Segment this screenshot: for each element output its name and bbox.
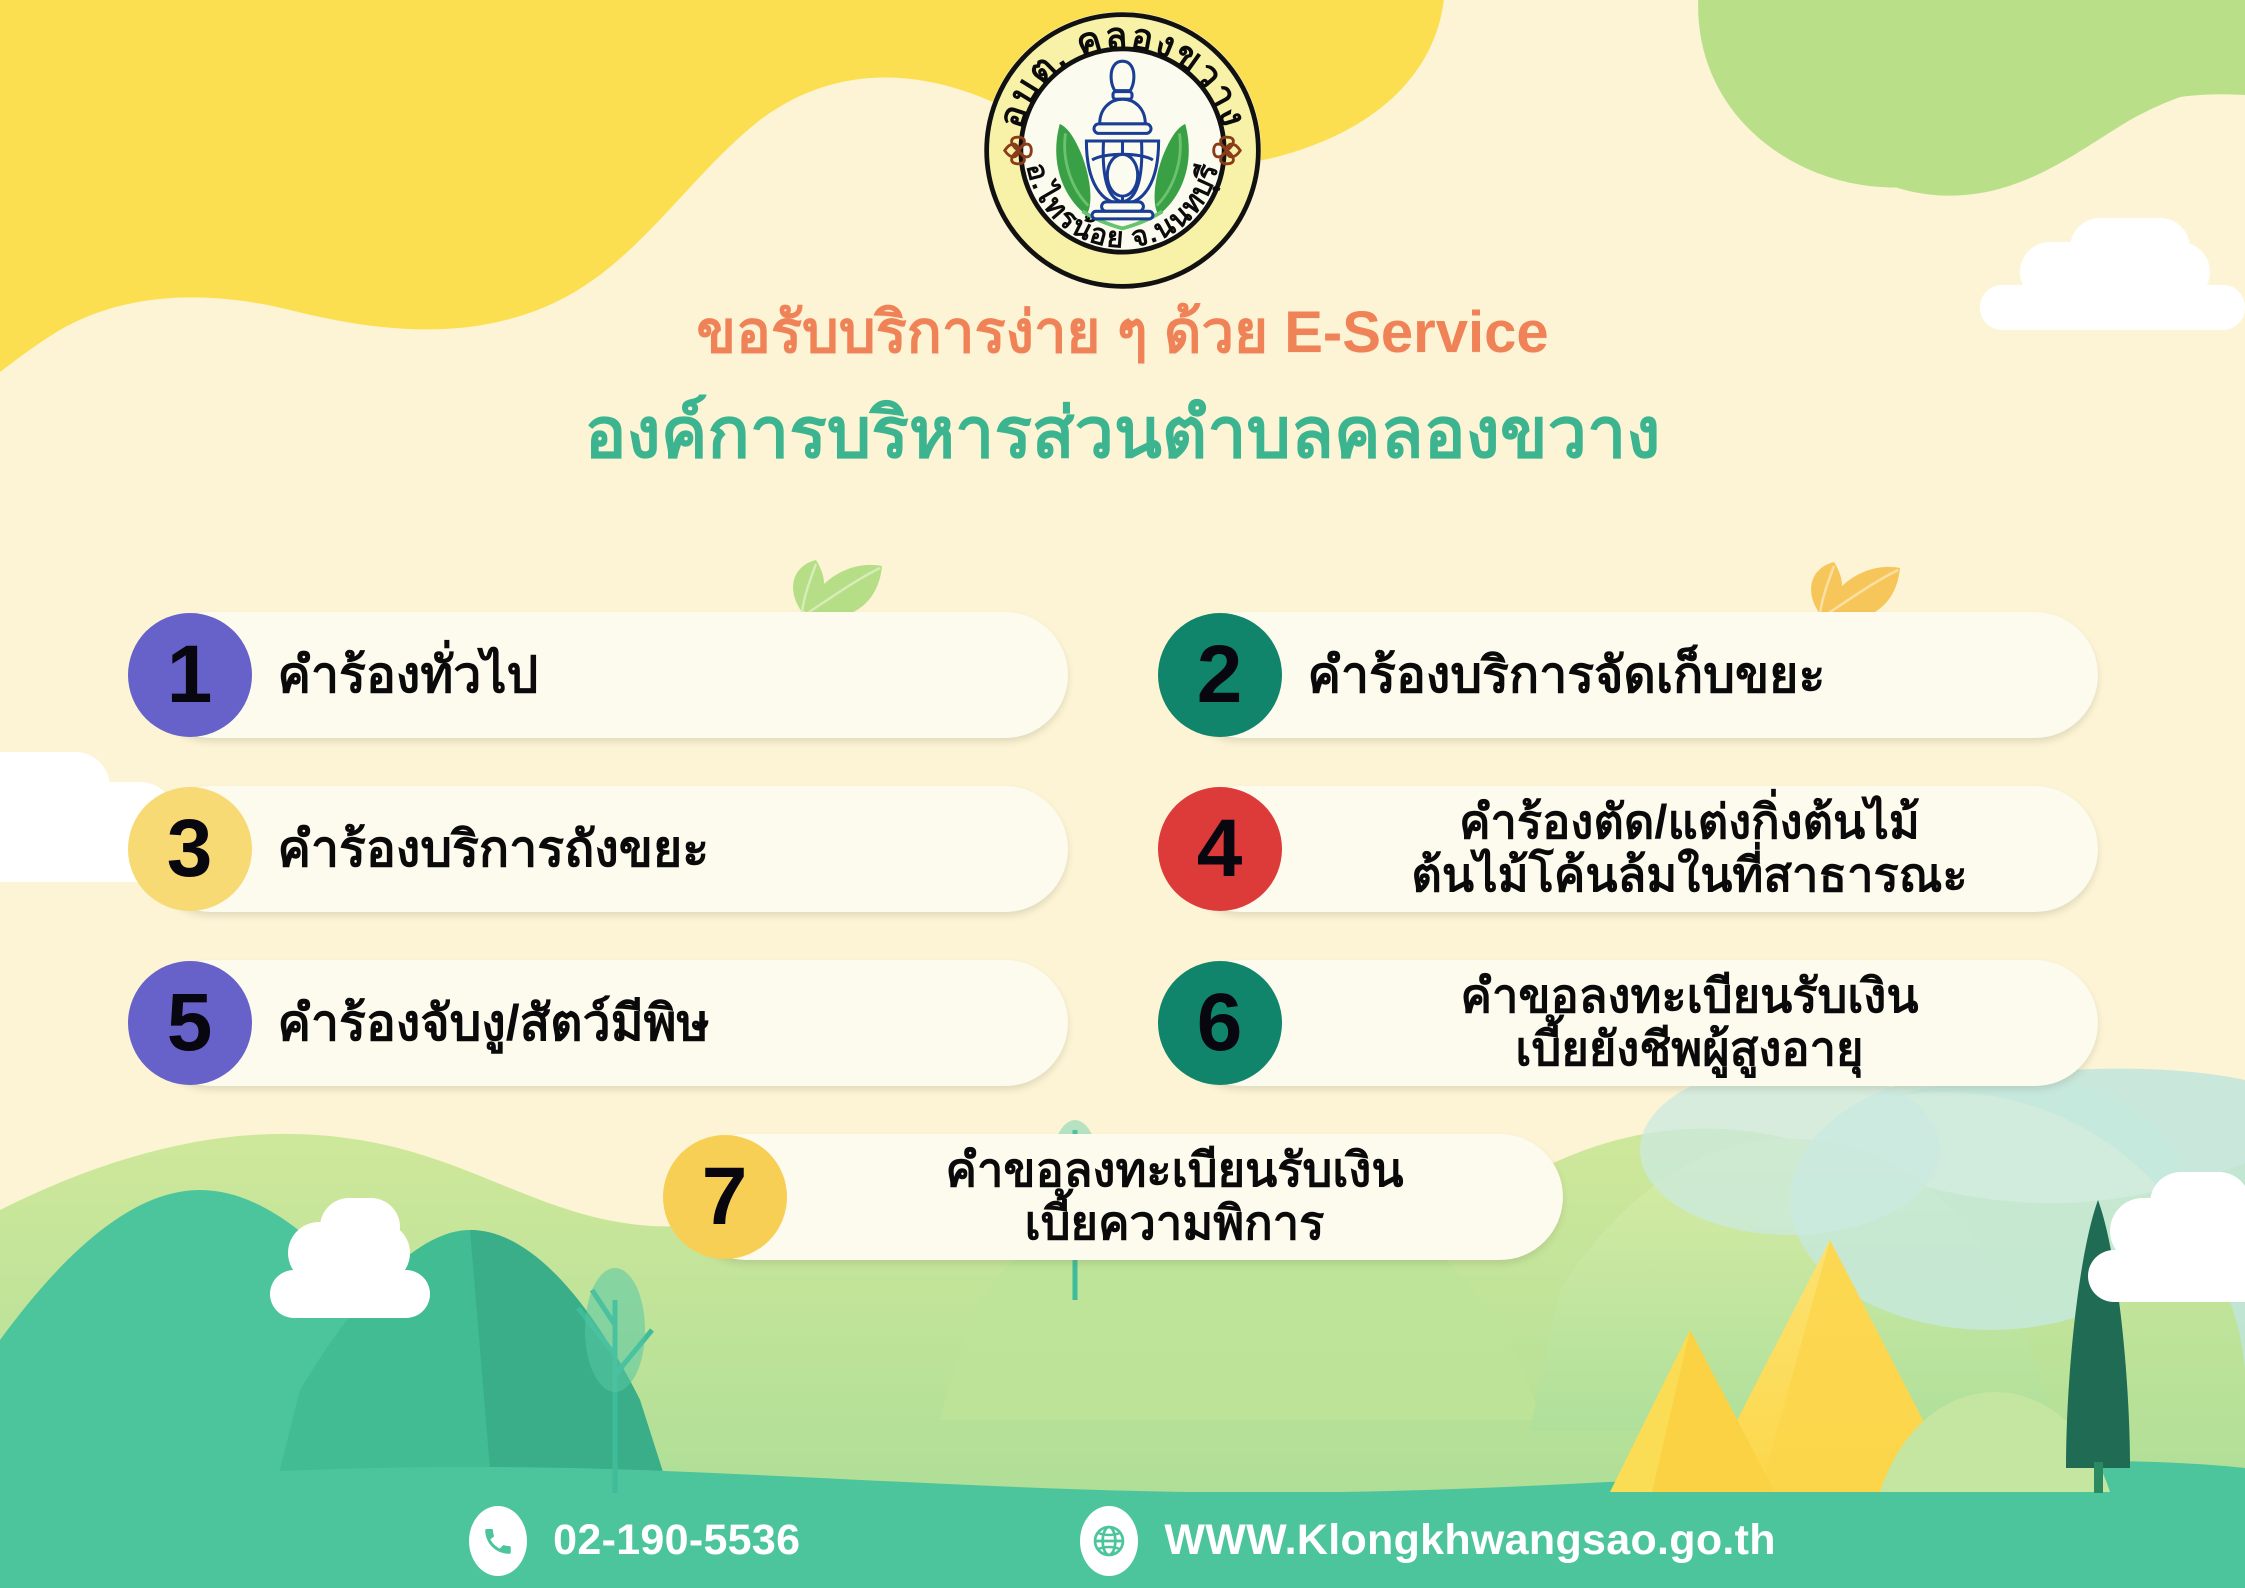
service-card-3[interactable]: 3 คำร้องบริการถังขยะ: [148, 786, 1068, 912]
service-number-badge-6: 6: [1158, 961, 1282, 1085]
contact-phone[interactable]: 02-190-5536: [469, 1506, 800, 1576]
service-label-6-line1: คำขอลงทะเบียนรับเงิน: [1461, 969, 1919, 1022]
poster-header: อบต. คลองขวาง อ.ไทรน้อย จ.นนทบุรี: [0, 0, 2245, 472]
service-list: 1 คำร้องทั่วไป 2 คำร้องบริการจัดเก็บขยะ …: [0, 612, 2245, 1308]
service-number-4: 4: [1197, 808, 1243, 890]
service-number-badge-1: 1: [128, 613, 252, 737]
mountain-yellow-small: [1610, 1330, 1775, 1492]
service-number-badge-5: 5: [128, 961, 252, 1085]
service-number-badge-2: 2: [1158, 613, 1282, 737]
phone-number: 02-190-5536: [553, 1516, 800, 1565]
service-label-4-line1: คำร้องตัด/แต่งกิ่งต้นไม้: [1459, 795, 1920, 848]
service-label-2: คำร้องบริการจัดเก็บขยะ: [1308, 647, 2072, 703]
service-label-7: คำขอลงทะเบียนรับเงิน เบี้ยความพิการ: [813, 1144, 1537, 1249]
service-label-1: คำร้องทั่วไป: [278, 647, 1042, 703]
service-number-badge-4: 4: [1158, 787, 1282, 911]
service-row-3: 5 คำร้องจับงู/สัตว์มีพิษ 6 คำขอลงทะเบียน…: [0, 960, 2245, 1086]
leaf-pair-yellow-1: [1811, 562, 1900, 620]
service-label-3: คำร้องบริการถังขยะ: [278, 821, 1042, 877]
service-number-6: 6: [1197, 982, 1243, 1064]
service-number-2: 2: [1197, 634, 1243, 716]
service-card-1[interactable]: 1 คำร้องทั่วไป: [148, 612, 1068, 738]
service-card-2[interactable]: 2 คำร้องบริการจัดเก็บขยะ: [1178, 612, 2098, 738]
page-title: ขอรับบริการง่าย ๆ ด้วย E-Service: [0, 301, 2245, 365]
organization-seal-logo: อบต. คลองขวาง อ.ไทรน้อย จ.นนทบุรี: [980, 8, 1265, 293]
globe-icon: [1080, 1506, 1138, 1576]
service-label-4-line2: ต้นไม้โค้นล้มในที่สาธารณะ: [1308, 849, 2072, 902]
service-number-7: 7: [702, 1156, 748, 1238]
phone-icon: [469, 1506, 527, 1576]
service-number-5: 5: [167, 982, 213, 1064]
leaf-pair-green-1: [793, 560, 882, 618]
service-label-5: คำร้องจับงู/สัตว์มีพิษ: [278, 995, 1042, 1051]
service-label-6-line2: เบี้ยยังชีพผู้สูงอายุ: [1308, 1023, 2072, 1076]
contact-footer: 02-190-5536 WWW.Klongkhwangsao.go.th: [0, 1493, 2245, 1588]
service-number-1: 1: [167, 634, 213, 716]
service-card-5[interactable]: 5 คำร้องจับงู/สัตว์มีพิษ: [148, 960, 1068, 1086]
service-number-badge-3: 3: [128, 787, 252, 911]
service-label-4: คำร้องตัด/แต่งกิ่งต้นไม้ ต้นไม้โค้นล้มใน…: [1308, 796, 2072, 901]
service-row-1: 1 คำร้องทั่วไป 2 คำร้องบริการจัดเก็บขยะ: [0, 612, 2245, 738]
service-number-badge-7: 7: [663, 1135, 787, 1259]
service-card-6[interactable]: 6 คำขอลงทะเบียนรับเงิน เบี้ยยังชีพผู้สูง…: [1178, 960, 2098, 1086]
service-card-4[interactable]: 4 คำร้องตัด/แต่งกิ่งต้นไม้ ต้นไม้โค้นล้ม…: [1178, 786, 2098, 912]
contact-website[interactable]: WWW.Klongkhwangsao.go.th: [1080, 1506, 1776, 1576]
page-subtitle: องค์การบริหารส่วนตำบลคลองขวาง: [0, 395, 2245, 472]
service-card-7[interactable]: 7 คำขอลงทะเบียนรับเงิน เบี้ยความพิการ: [683, 1134, 1563, 1260]
service-number-3: 3: [167, 808, 213, 890]
service-row-2: 3 คำร้องบริการถังขยะ 4 คำร้องตัด/แต่งกิ่…: [0, 786, 2245, 912]
service-row-4: 7 คำขอลงทะเบียนรับเงิน เบี้ยความพิการ: [0, 1134, 2245, 1260]
service-label-6: คำขอลงทะเบียนรับเงิน เบี้ยยังชีพผู้สูงอา…: [1308, 970, 2072, 1075]
website-url: WWW.Klongkhwangsao.go.th: [1164, 1516, 1776, 1565]
poster-root: อบต. คลองขวาง อ.ไทรน้อย จ.นนทบุรี: [0, 0, 2245, 1588]
service-label-7-line2: เบี้ยความพิการ: [813, 1197, 1537, 1250]
service-label-7-line1: คำขอลงทะเบียนรับเงิน: [946, 1143, 1404, 1196]
